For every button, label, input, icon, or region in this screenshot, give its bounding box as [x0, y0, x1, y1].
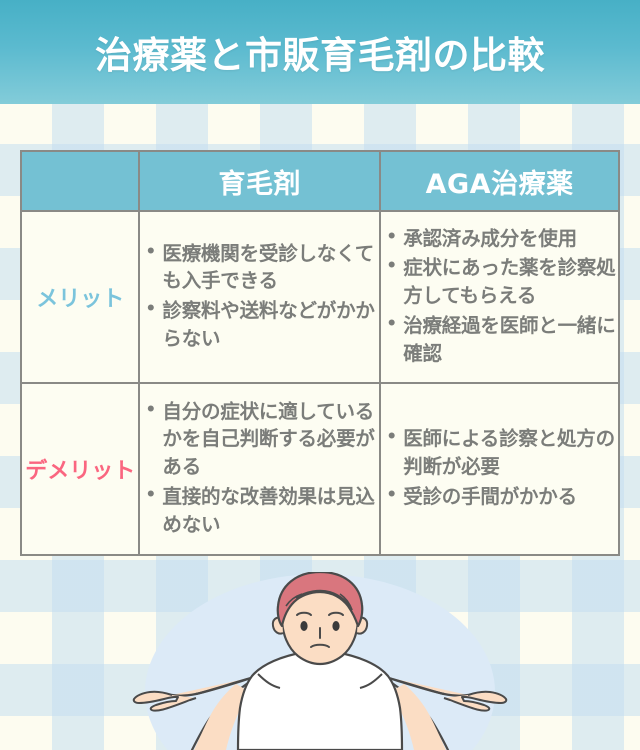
table-header-aga: AGA治療薬: [380, 151, 619, 211]
comparison-table: 育毛剤 AGA治療薬 メリット 医療機関を受診しなくても入手できる 診察料や送料…: [20, 150, 620, 556]
page-title: 治療薬と市販育毛剤の比較: [95, 25, 545, 79]
list-item: 自分の症状に適しているかを自己判断する必要がある: [162, 398, 379, 481]
table-row-demerit: デメリット 自分の症状に適しているかを自己判断する必要がある 直接的な改善効果は…: [21, 383, 619, 555]
row-label-merit: メリット: [21, 211, 139, 383]
t-shirt: [238, 652, 402, 750]
shrugging-man-svg: [0, 572, 640, 750]
right-eye: [332, 621, 339, 631]
cell-demerit-ikumouzai: 自分の症状に適しているかを自己判断する必要がある 直接的な改善効果は見込めない: [139, 383, 380, 555]
cell-demerit-aga: 医師による診察と処方の判断が必要 受診の手間がかかる: [380, 383, 619, 555]
cell-merit-ikumouzai: 医療機関を受診しなくても入手できる 診察料や送料などがかからない: [139, 211, 380, 383]
list-item: 医療機関を受診しなくても入手できる: [162, 240, 379, 295]
left-eye: [300, 621, 307, 631]
table-header-row: 育毛剤 AGA治療薬: [21, 151, 619, 211]
table-row-merit: メリット 医療機関を受診しなくても入手できる 診察料や送料などがかからない 承認…: [21, 211, 619, 383]
row-label-demerit: デメリット: [21, 383, 139, 555]
list-item: 直接的な改善効果は見込めない: [162, 483, 379, 538]
list-item: 受診の手間がかかる: [403, 483, 618, 511]
table-header-ikumouzai: 育毛剤: [139, 151, 380, 211]
list-item: 症状にあった薬を診察処方してもらえる: [403, 254, 618, 309]
list-item: 治療経過を医師と一緒に確認: [403, 312, 618, 367]
list-item: 医師による診察と処方の判断が必要: [403, 425, 618, 480]
cell-merit-aga: 承認済み成分を使用 症状にあった薬を診察処方してもらえる 治療経過を医師と一緒に…: [380, 211, 619, 383]
table-header-blank: [21, 151, 139, 211]
header-banner: 治療薬と市販育毛剤の比較: [0, 0, 640, 104]
list-item: 承認済み成分を使用: [403, 225, 618, 253]
shrugging-man-illustration: [0, 572, 640, 750]
list-item: 診察料や送料などがかからない: [162, 297, 379, 352]
